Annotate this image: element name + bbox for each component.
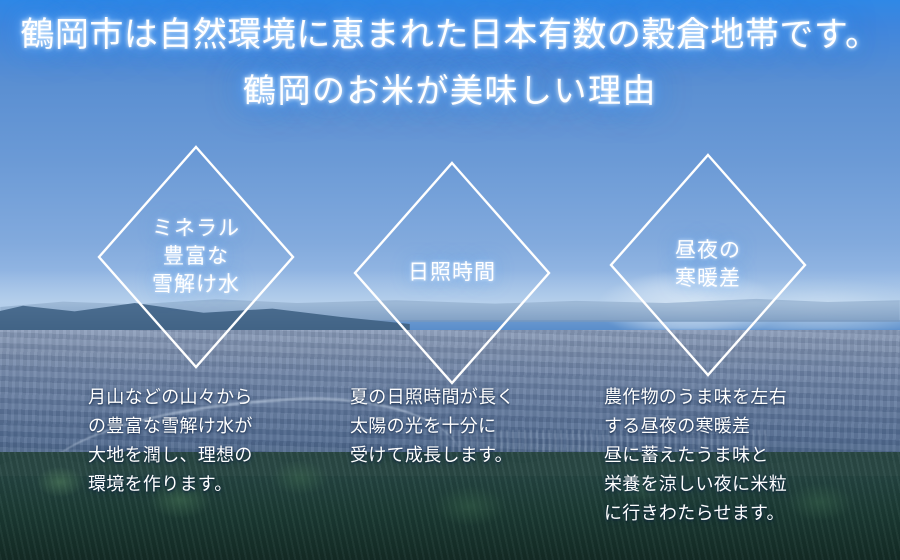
hero-banner: 鶴岡市は自然環境に恵まれた日本有数の穀倉地帯です。 鶴岡のお米が美味しい理由 ミ… (0, 0, 900, 560)
feature-description-temperature-range: 農作物のうま味を左右 する昼夜の寒暖差 昼に蓄えたうま味と 栄養を涼しい夜に米粒… (604, 383, 854, 528)
feature-description-mineral-water: 月山などの山々から の豊富な雪解け水が 大地を潤し、理想の 環境を作ります。 (88, 383, 318, 499)
feature-descriptions: 月山などの山々から の豊富な雪解け水が 大地を潤し、理想の 環境を作ります。 夏… (0, 0, 900, 560)
feature-description-sunshine-hours: 夏の日照時間が長く 太陽の光を十分に 受けて成長します。 (350, 383, 585, 470)
